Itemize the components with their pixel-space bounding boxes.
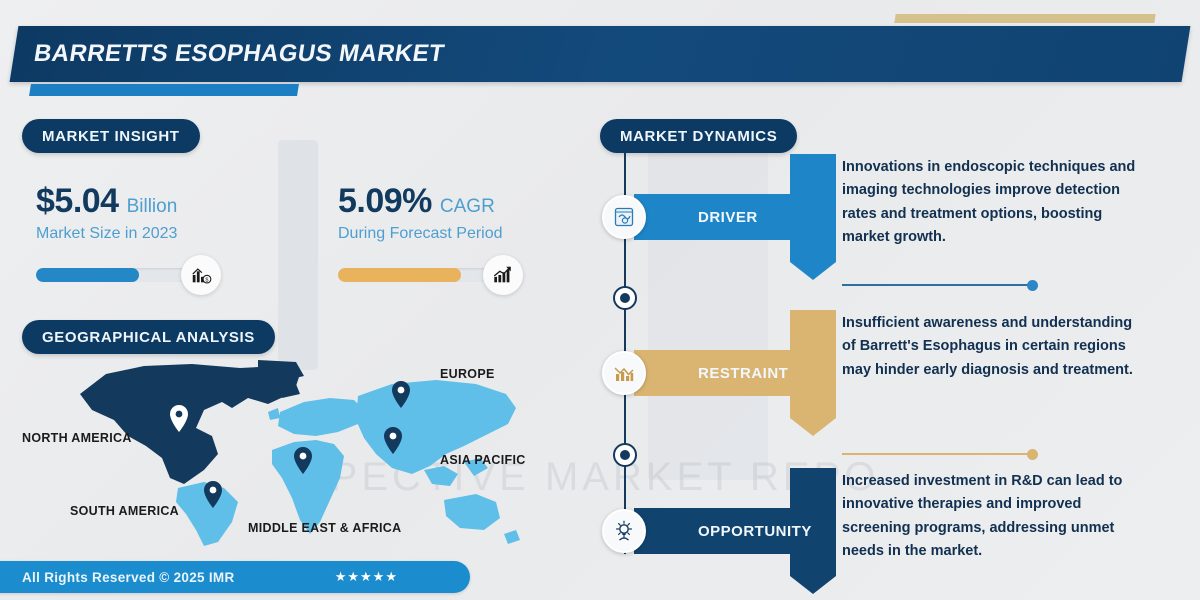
market-dynamics-pill: MARKET DYNAMICS	[600, 119, 797, 153]
dynamics-description: Insufficient awareness and understanding…	[842, 312, 1142, 382]
kpi-unit: CAGR	[440, 196, 495, 218]
kpi-progress-track	[338, 268, 496, 282]
header-gold-accent	[894, 14, 1155, 23]
bar-chart-dollar-icon: $	[181, 255, 221, 295]
timeline-node-dot	[613, 443, 637, 467]
footer-bar: All Rights Reserved © 2025 IMR ★★★★★	[0, 561, 470, 593]
map-label-south-america: SOUTH AMERICA	[70, 504, 179, 518]
map-label-asia-pacific: ASIA PACIFIC	[440, 453, 526, 467]
dynamics-label: RESTRAINT	[698, 365, 788, 382]
dynamics-description: Innovations in endoscopic techniques and…	[842, 156, 1142, 250]
background-blob	[278, 140, 318, 370]
map-label-europe: EUROPE	[440, 367, 495, 381]
kpi-market-size: $5.04 Billion Market Size in 2023 $	[36, 182, 221, 295]
map-region-australia	[444, 494, 500, 530]
dynamics-band-opportunity: OPPORTUNITY	[634, 508, 834, 554]
kpi-value: 5.09%	[338, 182, 432, 221]
declining-bar-chart-icon	[602, 351, 646, 395]
timeline-node-dot	[613, 286, 637, 310]
endoscope-document-icon	[602, 195, 646, 239]
infographic-canvas: SPECTIVE MARKET REPO BARRETTS ESOPHAGUS …	[0, 0, 1200, 600]
market-insight-pill: MARKET INSIGHT	[22, 119, 200, 153]
dynamics-band-driver: DRIVER	[634, 194, 834, 240]
kpi-cagr: 5.09% CAGR During Forecast Period	[338, 182, 523, 295]
growth-arrow-chart-icon	[483, 255, 523, 295]
kpi-unit: Billion	[127, 196, 178, 218]
map-label-middle-east-africa: MIDDLE EAST & AFRICA	[248, 521, 401, 535]
rating-stars: ★★★★★	[335, 569, 398, 585]
dynamics-band-restraint: RESTRAINT	[634, 350, 834, 396]
dynamics-underline	[842, 284, 1038, 286]
dynamics-label: OPPORTUNITY	[698, 523, 812, 540]
market-dynamics-timeline: DRIVER Innovations in endoscopic techniq…	[590, 150, 1200, 590]
geographical-analysis-pill: GEOGRAPHICAL ANALYSIS	[22, 320, 275, 354]
kpi-subtitle: During Forecast Period	[338, 225, 523, 243]
svg-text:$: $	[205, 277, 208, 283]
header-underline-accent	[29, 84, 299, 96]
page-title: BARRETTS ESOPHAGUS MARKET	[31, 38, 936, 72]
kpi-value: $5.04	[36, 182, 119, 221]
map-label-north-america: NORTH AMERICA	[22, 431, 132, 445]
map-region-north-america	[80, 364, 300, 484]
kpi-progress-track	[36, 268, 194, 282]
dynamics-description: Increased investment in R&D can lead to …	[842, 470, 1142, 564]
kpi-progress-fill	[36, 268, 139, 282]
map-region-europe	[278, 398, 364, 436]
kpi-subtitle: Market Size in 2023	[36, 225, 221, 243]
dynamics-underline	[842, 453, 1038, 455]
copyright-text: All Rights Reserved © 2025 IMR	[22, 570, 235, 585]
dynamics-label: DRIVER	[698, 209, 758, 226]
lightbulb-icon	[602, 509, 646, 553]
kpi-progress-fill	[338, 268, 461, 282]
